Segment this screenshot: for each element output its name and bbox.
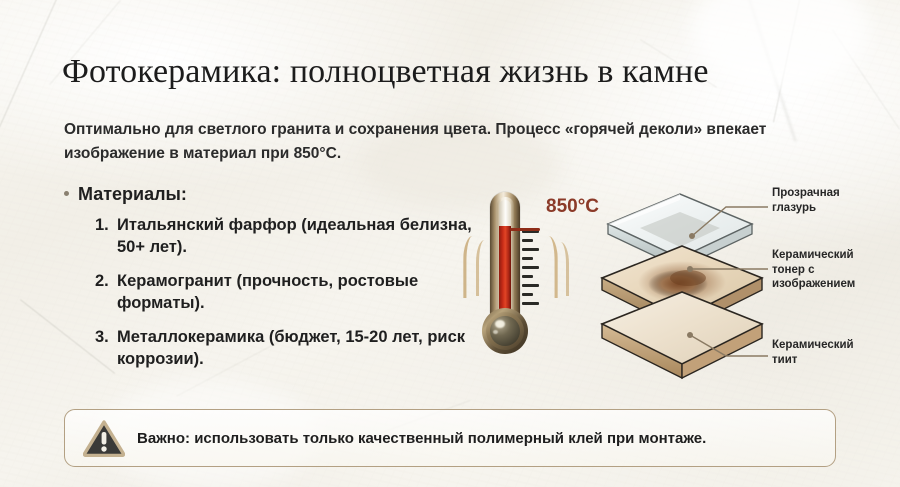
warning-bold-prefix: Важно:: [137, 430, 190, 447]
callout-glaze: Прозрачная глазурь: [772, 186, 840, 215]
warning-body-text: использовать только качественный полимер…: [190, 430, 706, 447]
slide-canvas: Фотокерамика: полноцветная жизнь в камне…: [0, 0, 900, 487]
callout-toner-line2: тонер с: [772, 263, 855, 278]
callout-tile-line2: тиит: [772, 353, 854, 368]
callout-tile: Керамический тиит: [772, 338, 854, 367]
callout-glaze-line1: Прозрачная: [772, 186, 840, 201]
warning-box: Важно: использовать только качественный …: [64, 409, 836, 467]
callout-glaze-line2: глазурь: [772, 201, 840, 216]
callout-toner-line1: Керамический: [772, 248, 855, 263]
callout-toner: Керамический тонер с изображением: [772, 248, 855, 292]
warning-text: Важно: использовать только качественный …: [137, 430, 706, 447]
callout-tile-line1: Керамический: [772, 338, 854, 353]
warning-triangle-icon: [83, 419, 125, 457]
callout-toner-line3: изображением: [772, 277, 855, 292]
